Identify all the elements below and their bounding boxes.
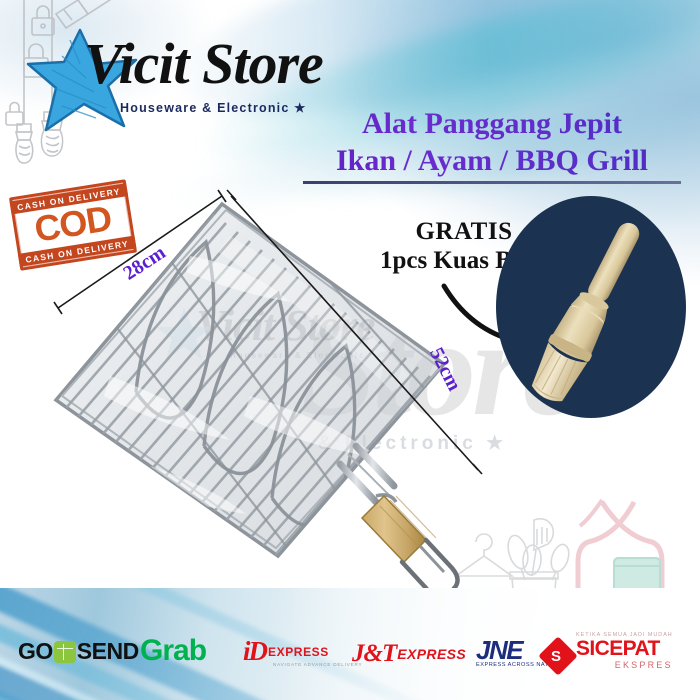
jnt-text-a: J&T — [352, 640, 396, 668]
idexpress-text-a: iD — [243, 636, 266, 667]
courier-logo-idexpress: iDEXPRESS NAVIGATE ADVANCE DELIVERY — [243, 636, 329, 667]
gosend-text-b: SEND — [77, 638, 139, 665]
product-poster: Store & Electronic ★ Vicit Store Housewa… — [0, 0, 700, 700]
idexpress-sub: NAVIGATE ADVANCE DELIVERY — [273, 662, 362, 667]
courier-logo-jnt: J&TEXPRESS — [352, 640, 466, 668]
courier-logo-gosend: GOSEND — [18, 638, 139, 665]
sicepat-text-b: EKSPRES — [576, 660, 673, 670]
gosend-box-icon — [54, 641, 76, 663]
courier-logos: GOSEND Grab iDEXPRESS NAVIGATE ADVANCE D… — [0, 632, 700, 678]
jnt-text-b: EXPRESS — [397, 646, 466, 662]
courier-logo-sicepat: S KETIKA SEMUA JADI MUDAH SICEPAT EKSPRE… — [576, 632, 673, 670]
bonus-brush-photo — [496, 196, 686, 418]
gosend-text-a: GO — [18, 638, 53, 665]
courier-logo-grab: Grab — [140, 634, 206, 668]
courier-logo-jne: JNE EXPRESS ACROSS NATIONS — [476, 635, 522, 666]
sicepat-mark-icon: S — [538, 636, 578, 676]
bbq-brush-icon — [496, 196, 686, 418]
sicepat-text-a: SICEPAT — [576, 638, 673, 660]
idexpress-text-b: EXPRESS — [268, 645, 329, 659]
